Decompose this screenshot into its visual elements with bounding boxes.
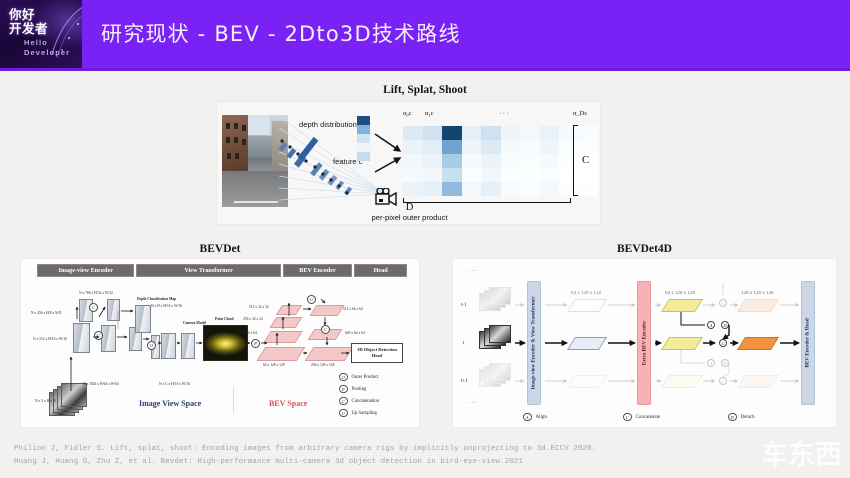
legend-item: D Detach <box>728 411 755 423</box>
camera-icon <box>375 188 399 206</box>
slide-header: 你好 开发者 Hello Developer 研究现状 - BEV - 2Dto… <box>0 0 850 70</box>
alpha-label-d: α_Dc <box>573 110 587 117</box>
logo-cn-line-1: 你好 <box>9 8 48 22</box>
bevdet-title: BEVDet <box>20 243 420 255</box>
header-divider <box>0 68 850 71</box>
bevdet-figure: Image-view Encoder View Transformer BEV … <box>20 258 420 428</box>
alpha-label-ellipsis: · · · <box>499 110 509 117</box>
lift-splat-shoot-figure: depth distribution α feature c α₀c α₁c ·… <box>216 101 601 225</box>
legend-label-concatenation: Concatenation <box>352 399 380 404</box>
outer-product-icon: O <box>339 373 348 382</box>
building-left <box>222 115 248 177</box>
detach-icon: D <box>728 413 737 422</box>
sky-region <box>246 115 270 135</box>
legend-item: C Concatenate <box>623 411 728 423</box>
lift-splat-shoot-title: Lift, Splat, Shoot <box>0 84 850 96</box>
concatenate-icon: C <box>623 413 632 422</box>
bevdet4d-legend: A Align C Concatenate D Detach <box>523 411 813 423</box>
legend-label-outer-product: Outer Product <box>352 375 379 380</box>
reference-list: Philion J, Fidler S. Lift, splat, shoot:… <box>14 443 734 469</box>
image-view-space-label: Image View Space <box>139 399 201 408</box>
legend-item: U Up Sampling <box>339 407 379 419</box>
legend-label-align: Align <box>536 415 547 420</box>
logo-en-line-2: Developer <box>24 48 70 58</box>
legend-label-concatenate: Concatenate <box>636 415 661 420</box>
bev-space-label: BEV Space <box>269 399 307 408</box>
legend-label-pooling: Pooling <box>352 387 367 392</box>
feature-cell <box>357 143 370 152</box>
pooling-icon: P <box>339 385 348 394</box>
logo-en-line-1: Hello <box>24 38 70 48</box>
bevdet-legend: O Outer Product P Pooling C Concatenatio… <box>339 371 379 419</box>
legend-item: C Concatenation <box>339 395 379 407</box>
alpha-label-1: α₁c <box>425 110 434 117</box>
brand-logo: 你好 开发者 Hello Developer <box>0 0 82 70</box>
alpha-coefficient-labels: α₀c α₁c · · · α_Dc <box>403 110 599 123</box>
legend-item: P Pooling <box>339 383 379 395</box>
feature-cell <box>357 152 370 161</box>
align-icon: A <box>523 413 532 422</box>
feature-cell <box>357 134 370 143</box>
legend-item: O Outer Product <box>339 371 379 383</box>
c-axis-bracket <box>573 125 578 196</box>
d-axis-label: D <box>217 202 602 213</box>
reference-2: Huang J, Huang G, Zhu Z, et al. Bevdet: … <box>14 456 734 469</box>
outer-product-caption: per-pixel outer product <box>217 213 602 222</box>
alpha-label-0: α₀c <box>403 110 412 117</box>
legend-label-detach: Detach <box>741 415 755 420</box>
concatenation-icon: C <box>339 397 348 406</box>
upsampling-icon: U <box>339 409 348 418</box>
page-title: 研究现状 - BEV - 2Dto3D技术路线 <box>101 18 461 50</box>
logo-cn-line-2: 开发者 <box>9 22 48 36</box>
watermark-logo: 车东西 <box>761 433 842 472</box>
feature-cell <box>357 125 370 134</box>
space-divider <box>233 387 234 413</box>
c-axis-label: C <box>582 154 589 166</box>
logo-english-text: Hello Developer <box>24 38 70 58</box>
depth-distribution-label: depth distribution α <box>299 120 363 129</box>
bevdet4d-figure: · · · t-1 t t+1 · · · Image-view Encoder… <box>452 258 837 428</box>
legend-item: A Align <box>523 411 623 423</box>
reference-1: Philion J, Fidler S. Lift, splat, shoot:… <box>14 443 734 456</box>
feature-cell <box>357 116 370 125</box>
outer-product-matrix <box>403 126 598 196</box>
bevdet4d-arrows <box>453 259 838 429</box>
logo-chinese-text: 你好 开发者 <box>9 8 48 35</box>
feature-column <box>357 116 370 161</box>
legend-label-upsampling: Up Sampling <box>352 411 377 416</box>
bevdet4d-title: BEVDet4D <box>452 243 837 255</box>
